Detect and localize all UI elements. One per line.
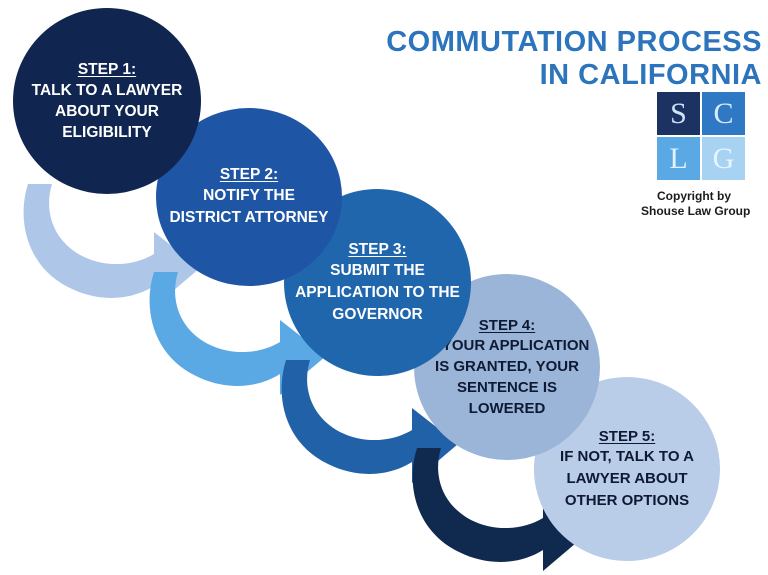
step-1-label: STEP 1: xyxy=(23,60,191,80)
page-title: COMMUTATION PROCESS IN CALIFORNIA xyxy=(376,26,762,92)
step-4-body: IF YOUR APPLICATION IS GRANTED, YOUR SEN… xyxy=(424,335,590,419)
copyright-notice: Copyright by Shouse Law Group xyxy=(641,189,747,219)
copyright-line-1: Copyright by xyxy=(641,189,747,204)
step-circle-1: STEP 1: TALK TO A LAWYER ABOUT YOUR ELIG… xyxy=(13,8,201,194)
step-2-body: NOTIFY THE DISTRICT ATTORNEY xyxy=(166,185,332,229)
step-3-body: SUBMIT THE APPLICATION TO THE GOVERNOR xyxy=(294,260,461,326)
step-1-body: TALK TO A LAWYER ABOUT YOUR ELIGIBILITY xyxy=(23,80,191,143)
commutation-process-infographic: COMMUTATION PROCESS IN CALIFORNIA S C L … xyxy=(0,0,768,575)
step-2-label: STEP 2: xyxy=(166,165,332,185)
title-line-1: COMMUTATION PROCESS xyxy=(376,26,762,59)
copyright-line-2: Shouse Law Group xyxy=(641,204,747,219)
step-5-body: IF NOT, TALK TO A LAWYER ABOUT OTHER OPT… xyxy=(544,446,710,512)
logo-letter-g: G xyxy=(702,137,745,180)
logo-letter-s: S xyxy=(657,92,700,135)
logo-letter-c: C xyxy=(702,92,745,135)
logo-grid: S C L G xyxy=(657,92,745,180)
title-line-2: IN CALIFORNIA xyxy=(376,59,762,92)
logo-letter-l: L xyxy=(657,137,700,180)
shouse-law-group-logo: S C L G Copyright by Shouse Law Group xyxy=(655,92,747,219)
